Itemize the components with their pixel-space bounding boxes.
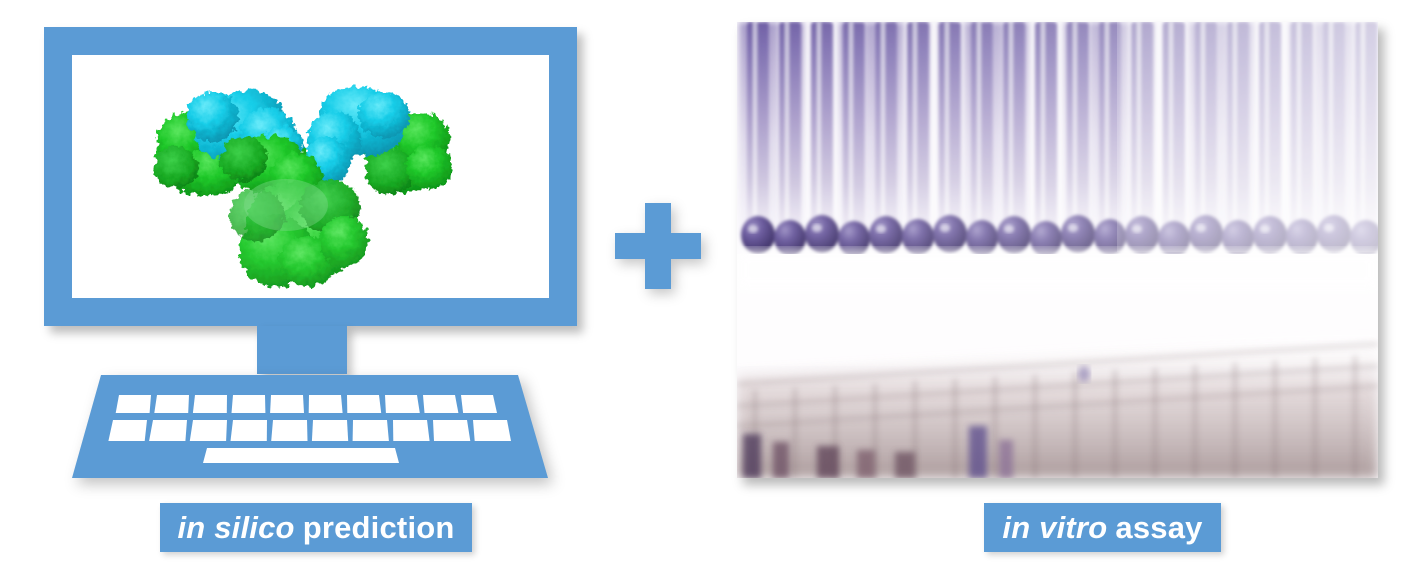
label-regular-text: assay — [1115, 512, 1202, 543]
panel-in-silico: in silicoprediction — [0, 0, 620, 568]
plus-sign-icon — [615, 203, 701, 289]
label-italic-text: in vitro — [1002, 512, 1107, 543]
keyboard-icon — [72, 373, 548, 480]
label-in-silico-prediction: in silicoprediction — [160, 503, 472, 552]
label-regular-text: prediction — [303, 512, 455, 543]
pipette-tips-photo — [737, 22, 1378, 478]
figure-canvas: in silicoprediction — [0, 0, 1408, 568]
antibody-structure-image — [72, 55, 549, 298]
monitor-screen — [72, 55, 549, 298]
computer-monitor-icon — [44, 27, 577, 326]
monitor-stand — [257, 326, 347, 374]
label-in-vitro-assay: in vitroassay — [984, 503, 1221, 552]
label-italic-text: in silico — [177, 512, 294, 543]
